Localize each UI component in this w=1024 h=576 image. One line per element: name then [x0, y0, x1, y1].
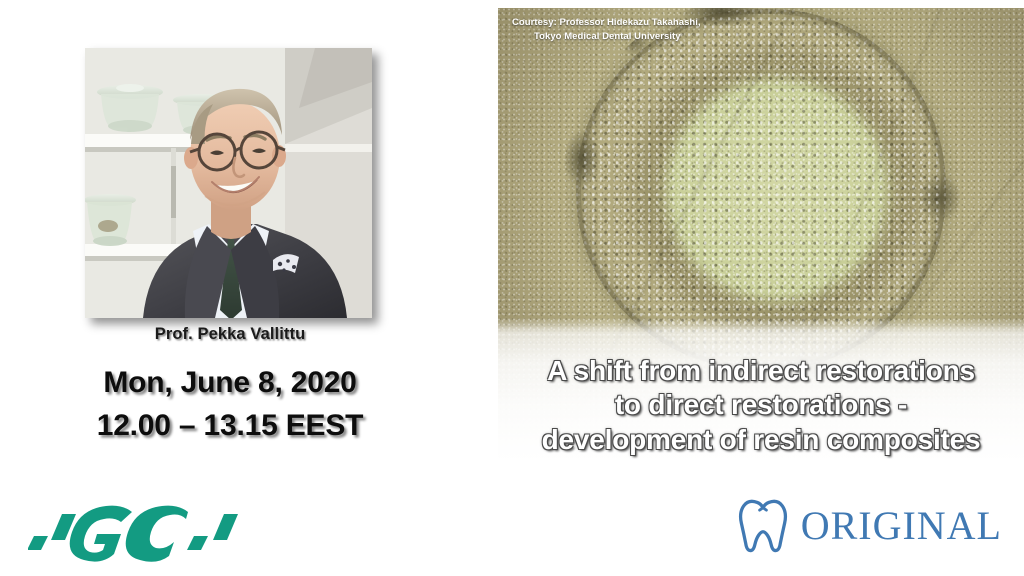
- courtesy-line-1: Courtesy: Professor Hidekazu Takahashi,: [512, 16, 832, 30]
- presentation-title: A shift from indirect restorations to di…: [498, 354, 1024, 457]
- original-wordmark: ORIGINAL: [801, 506, 1002, 546]
- title-line-1: A shift from indirect restorations: [498, 354, 1024, 388]
- speaker-name: Prof. Pekka Vallittu: [0, 325, 460, 344]
- title-line-2: to direct restorations -: [498, 388, 1024, 422]
- webinar-datetime: Mon, June 8, 2020 12.00 – 13.15 EEST: [0, 362, 460, 447]
- webinar-time: 12.00 – 13.15 EEST: [0, 405, 460, 448]
- original-logo: ORIGINAL: [738, 490, 1002, 562]
- slide-canvas: Prof. Pekka Vallittu Mon, June 8, 2020 1…: [0, 0, 1024, 576]
- courtesy-credit: Courtesy: Professor Hidekazu Takahashi, …: [512, 16, 832, 44]
- speaker-panel: Prof. Pekka Vallittu Mon, June 8, 2020 1…: [0, 0, 460, 480]
- speaker-portrait-image: [85, 48, 372, 318]
- title-line-3: development of resin composites: [498, 423, 1024, 457]
- webinar-date: Mon, June 8, 2020: [0, 362, 460, 405]
- tooth-icon: [738, 499, 788, 553]
- speaker-photo: [85, 48, 372, 318]
- micrograph-panel: Courtesy: Professor Hidekazu Takahashi, …: [498, 8, 1024, 463]
- courtesy-line-2: Tokyo Medical Dental University: [512, 30, 832, 44]
- footer-logos: GC ORIGINAL: [0, 480, 1024, 576]
- gc-logo-icon: GC: [28, 488, 258, 568]
- gc-logo: GC: [28, 488, 258, 568]
